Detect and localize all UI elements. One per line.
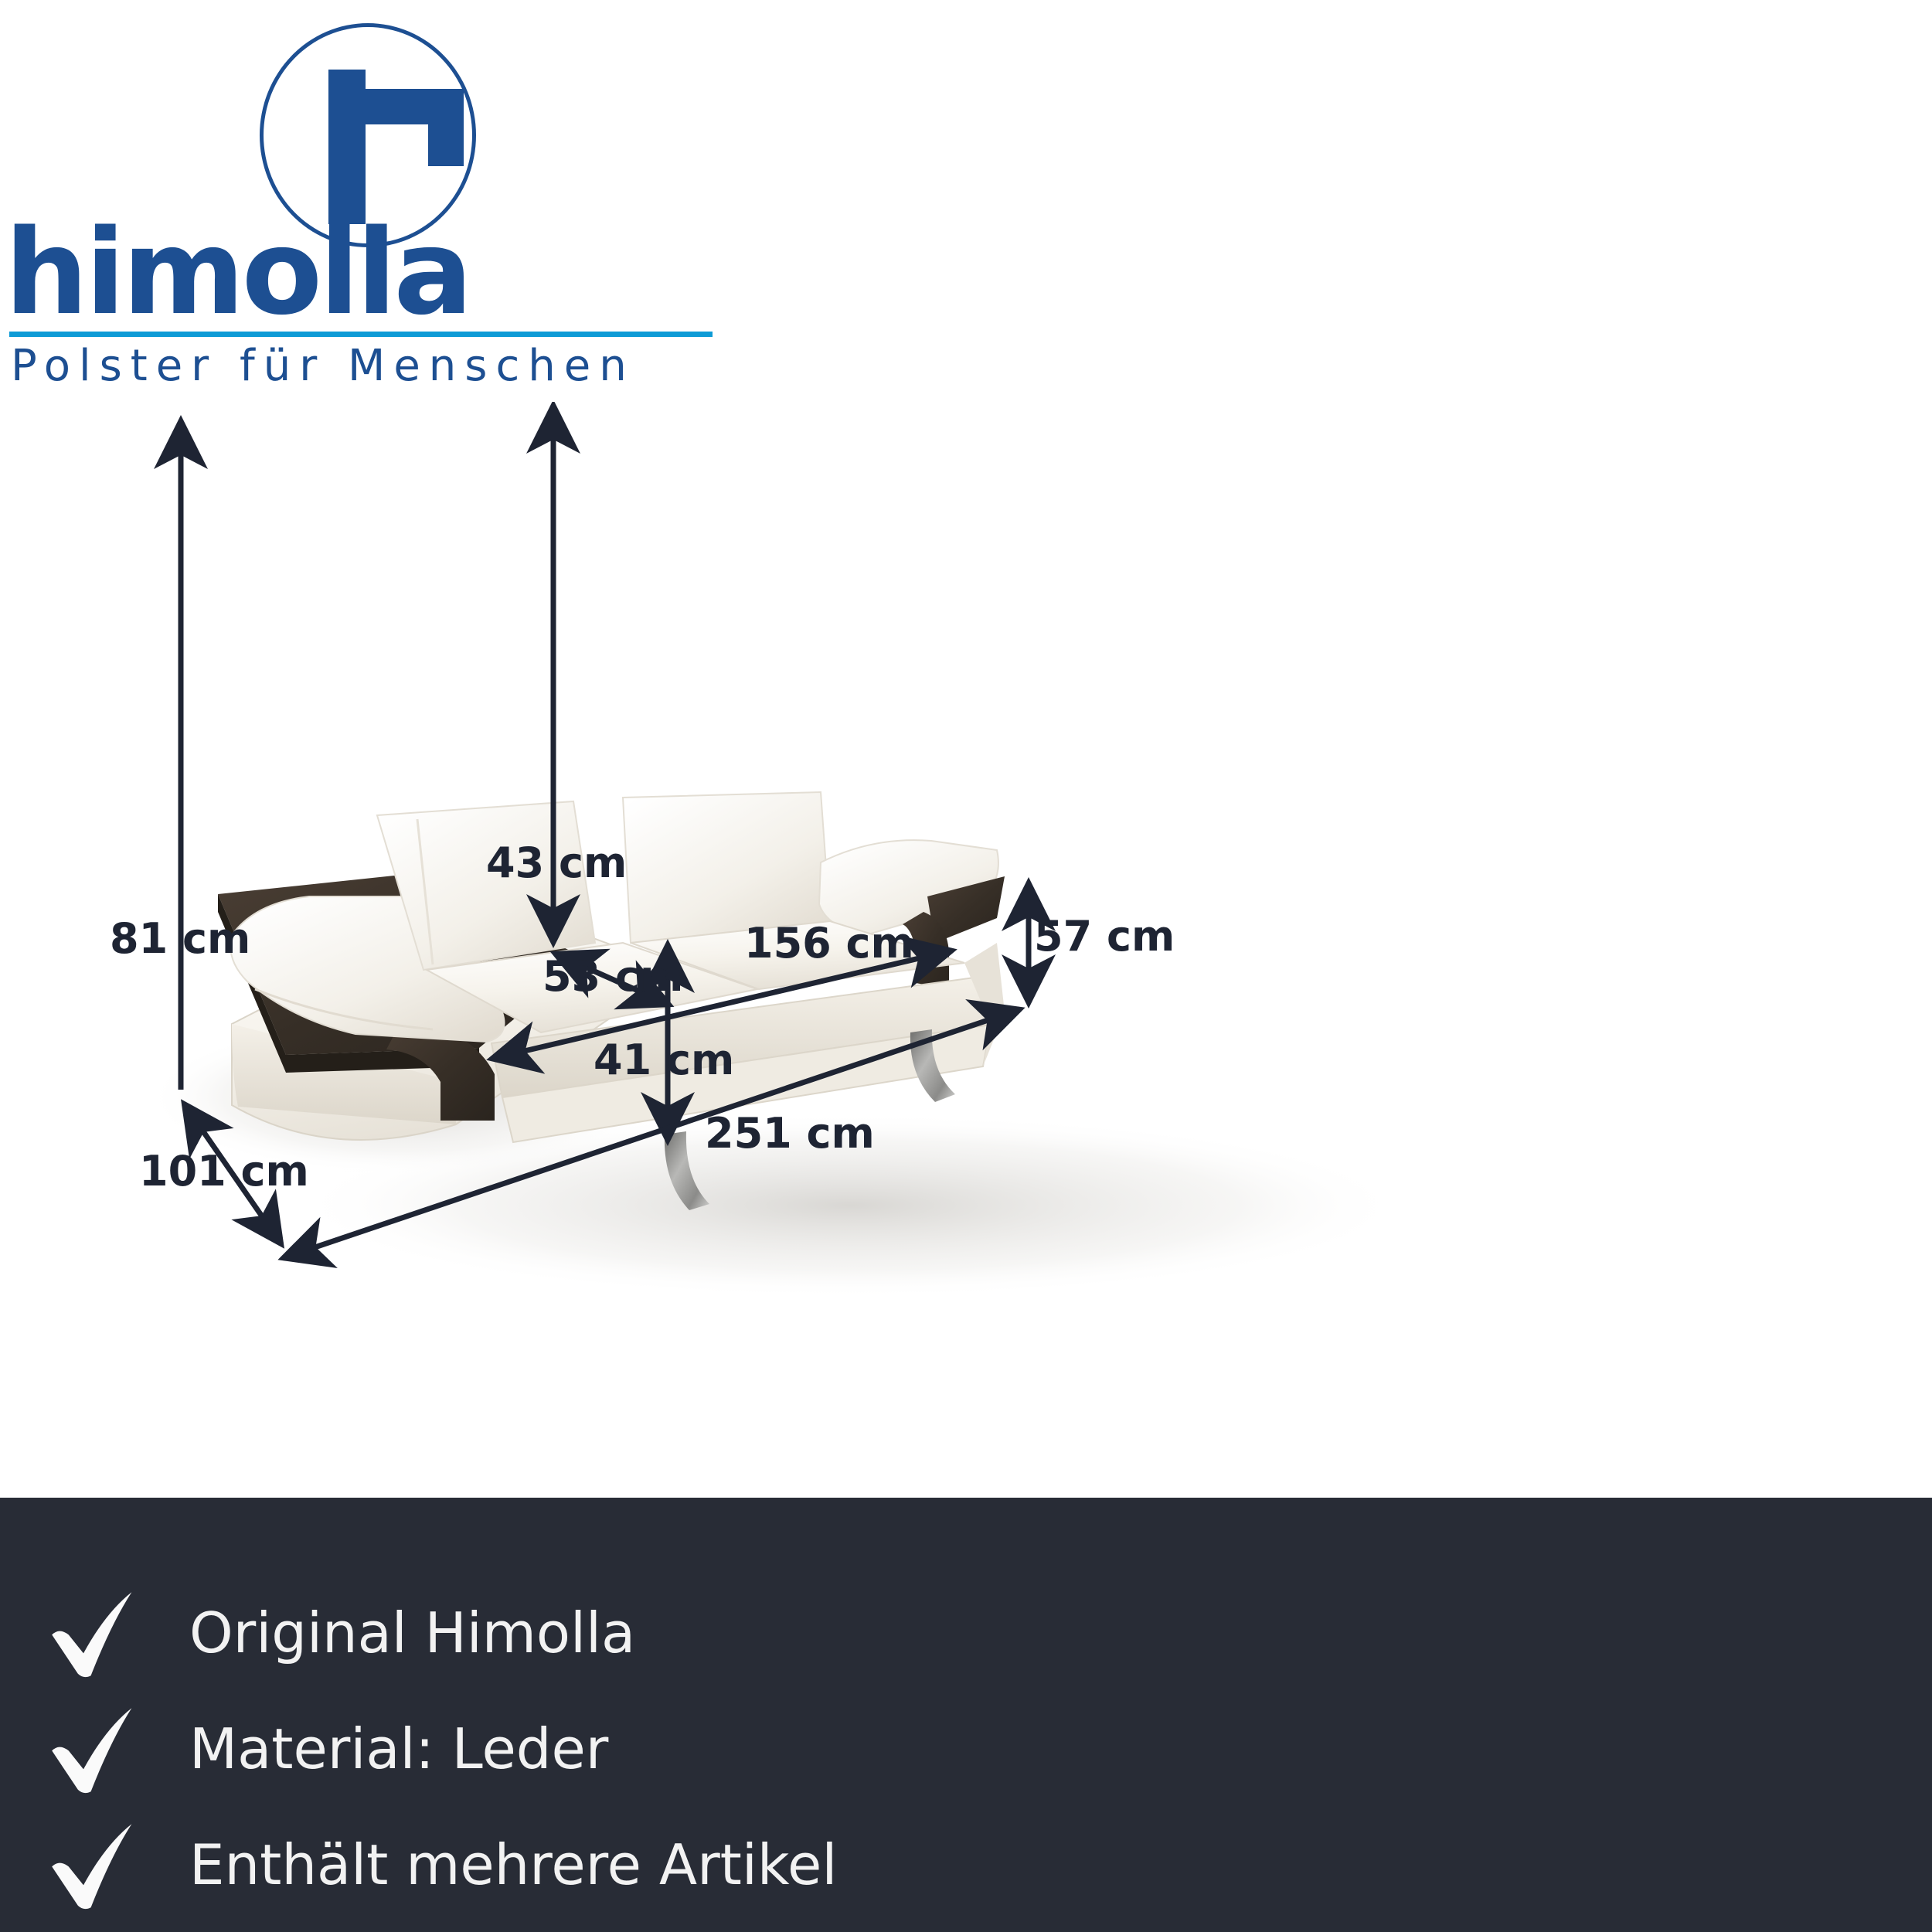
dim-label-seat-width: 156 cm [744,919,914,968]
feature-row: Material: Leder [46,1702,608,1795]
check-icon [46,1818,139,1911]
feature-label: Enthält mehrere Artikel [189,1835,837,1895]
dim-label-total-height: 81 cm [110,914,250,963]
check-icon [46,1587,139,1679]
product-dimension-diagram: 81 cm 43 cm 53 cm 156 cm 57 cm 41 cm 251… [0,402,1932,1498]
feature-label: Material: Leder [189,1719,608,1779]
dim-label-seat-depth: 53 cm [543,952,683,1001]
logo-h-leg-icon [428,89,464,166]
footer-bar: Original Himolla Material: Leder Enthält… [0,1498,1932,1932]
logo-tagline: Polster für Menschen [11,342,635,391]
dim-label-armrest-height: 57 cm [1034,912,1175,961]
feature-row: Enthält mehrere Artikel [46,1818,837,1911]
dim-label-seat-height: 41 cm [594,1036,734,1084]
brand-logo: himolla Polster für Menschen [0,8,742,379]
feature-row: Original Himolla [46,1587,635,1679]
dim-label-backrest-height: 43 cm [486,838,627,887]
check-icon [46,1702,139,1795]
logo-underline-rule [9,332,713,337]
logo-wordmark: himolla [5,215,470,331]
dim-label-total-depth: 101 cm [139,1147,309,1196]
feature-label: Original Himolla [189,1603,635,1663]
dim-label-total-width: 251 cm [705,1109,875,1158]
